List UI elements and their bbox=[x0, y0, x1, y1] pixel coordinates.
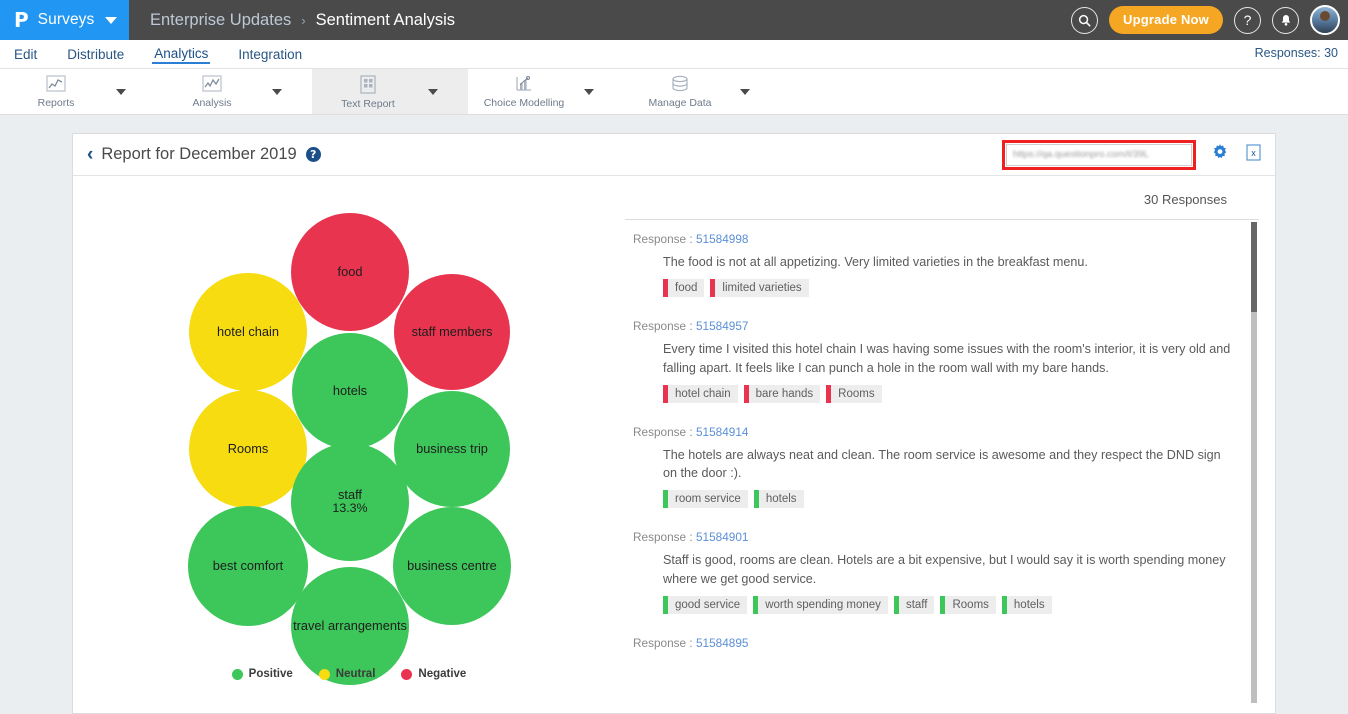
response-tag[interactable]: Rooms bbox=[826, 385, 881, 403]
svg-text:x: x bbox=[1251, 148, 1256, 158]
legend-dot-icon bbox=[319, 669, 330, 680]
bubble-label: food bbox=[338, 265, 363, 279]
toolbar-manage-data-label: Manage Data bbox=[648, 97, 711, 109]
response-item: Response : 51584914The hotels are always… bbox=[633, 425, 1235, 509]
legend-label: Negative bbox=[418, 668, 466, 680]
page-body: ‹ Report for December 2019 ? https://qa.… bbox=[0, 115, 1348, 714]
brand-surveys-menu[interactable]: P Surveys bbox=[0, 0, 129, 40]
legend-item-neutral[interactable]: Neutral bbox=[319, 668, 376, 680]
response-tag[interactable]: hotels bbox=[1002, 596, 1052, 614]
toolbar-choice-modelling-chevron-down-icon[interactable] bbox=[584, 89, 594, 95]
toolbar-analysis-button[interactable]: Analysis bbox=[158, 69, 266, 115]
response-tag[interactable]: good service bbox=[663, 596, 747, 614]
icon-toolbar: Reports Analysis Text Report bbox=[0, 69, 1348, 115]
response-tag[interactable]: limited varieties bbox=[710, 279, 808, 297]
response-tag[interactable]: room service bbox=[663, 490, 748, 508]
report-url-input[interactable]: https://qa.questionpro.com/t/39L bbox=[1006, 144, 1192, 166]
help-button[interactable]: ? bbox=[1234, 7, 1261, 34]
document-grid-icon bbox=[357, 74, 379, 96]
area-chart-icon bbox=[200, 75, 224, 95]
bubble-canvas: foodstaff membershotel chainhotelsRoomsb… bbox=[73, 180, 625, 672]
tag-label: worth spending money bbox=[758, 596, 888, 614]
legend-item-negative[interactable]: Negative bbox=[401, 668, 466, 680]
chart-legend: PositiveNeutralNegative bbox=[73, 668, 625, 680]
toolbar-manage-data-button[interactable]: Manage Data bbox=[626, 69, 734, 115]
toolbar-group-reports: Reports bbox=[0, 69, 156, 114]
toolbar-group-text-report: Text Report bbox=[312, 69, 468, 114]
nav-tabs: Edit Distribute Analytics Integration Re… bbox=[0, 40, 1348, 69]
toolbar-reports-label: Reports bbox=[38, 97, 75, 109]
response-item: Response : 51584998The food is not at al… bbox=[633, 232, 1235, 297]
tab-integration[interactable]: Integration bbox=[236, 45, 304, 63]
page-title: Report for December 2019 bbox=[101, 145, 296, 164]
report-card-actions: https://qa.questionpro.com/t/39L x bbox=[1002, 140, 1263, 170]
bubble-label: business centre bbox=[407, 559, 497, 573]
toolbar-analysis-label: Analysis bbox=[192, 97, 231, 109]
response-item: Response : 51584895 bbox=[633, 636, 1235, 650]
response-tag[interactable]: hotel chain bbox=[663, 385, 738, 403]
report-card: ‹ Report for December 2019 ? https://qa.… bbox=[72, 133, 1276, 714]
responses-pane: 30 Responses Response : 51584998The food… bbox=[625, 176, 1275, 713]
response-header: Response : 51584914 bbox=[633, 425, 1235, 439]
tag-label: good service bbox=[668, 596, 747, 614]
response-header: Response : 51584998 bbox=[633, 232, 1235, 246]
response-tag[interactable]: food bbox=[663, 279, 704, 297]
bubble-rooms[interactable]: Rooms bbox=[189, 390, 307, 508]
report-card-header: ‹ Report for December 2019 ? https://qa.… bbox=[73, 134, 1275, 176]
toolbar-reports-button[interactable]: Reports bbox=[2, 69, 110, 115]
report-card-body: foodstaff membershotel chainhotelsRoomsb… bbox=[73, 176, 1275, 713]
toolbar-text-report-chevron-down-icon[interactable] bbox=[428, 89, 438, 95]
response-tags: foodlimited varieties bbox=[633, 279, 1235, 297]
gear-icon bbox=[1212, 144, 1228, 160]
settings-button[interactable] bbox=[1212, 144, 1228, 165]
responses-scrollbar[interactable] bbox=[1251, 222, 1257, 703]
tab-analytics[interactable]: Analytics bbox=[152, 44, 210, 64]
responses-list: Response : 51584998The food is not at al… bbox=[625, 220, 1251, 713]
tab-distribute[interactable]: Distribute bbox=[65, 45, 126, 63]
tag-label: Rooms bbox=[945, 596, 995, 614]
report-url-value: https://qa.questionpro.com/t/39L bbox=[1013, 149, 1149, 160]
question-mark-icon: ? bbox=[1244, 12, 1252, 28]
topbar-actions: Upgrade Now ? bbox=[1071, 0, 1348, 40]
bubble-staff-members[interactable]: staff members bbox=[394, 274, 510, 390]
response-item: Response : 51584901Staff is good, rooms … bbox=[633, 530, 1235, 614]
bubble-business-trip[interactable]: business trip bbox=[394, 391, 510, 507]
excel-export-icon: x bbox=[1246, 144, 1261, 161]
legend-item-positive[interactable]: Positive bbox=[232, 668, 293, 680]
legend-label: Neutral bbox=[336, 668, 376, 680]
response-tags: hotel chainbare handsRooms bbox=[633, 385, 1235, 403]
bar-chart-icon bbox=[512, 75, 536, 95]
response-item: Response : 51584957Every time I visited … bbox=[633, 319, 1235, 403]
toolbar-analysis-chevron-down-icon[interactable] bbox=[272, 89, 282, 95]
response-header: Response : 51584901 bbox=[633, 530, 1235, 544]
bubble-percent: 13.3% bbox=[332, 502, 367, 516]
toolbar-manage-data-chevron-down-icon[interactable] bbox=[740, 89, 750, 95]
bubble-label: travel arrangements bbox=[293, 619, 407, 633]
response-header: Response : 51584957 bbox=[633, 319, 1235, 333]
help-icon[interactable]: ? bbox=[306, 147, 321, 162]
search-icon bbox=[1078, 14, 1091, 27]
questionpro-logo-icon: P bbox=[14, 10, 29, 30]
tab-edit[interactable]: Edit bbox=[12, 45, 39, 63]
tag-label: staff bbox=[899, 596, 935, 614]
url-highlight-box: https://qa.questionpro.com/t/39L bbox=[1002, 140, 1196, 170]
upgrade-now-button[interactable]: Upgrade Now bbox=[1109, 6, 1223, 34]
tag-label: bare hands bbox=[749, 385, 821, 403]
tag-label: hotel chain bbox=[668, 385, 738, 403]
response-tag[interactable]: bare hands bbox=[744, 385, 821, 403]
breadcrumb-current: Sentiment Analysis bbox=[316, 11, 455, 30]
legend-dot-icon bbox=[401, 669, 412, 680]
bubble-label: staff members bbox=[412, 325, 493, 339]
notifications-button[interactable] bbox=[1272, 7, 1299, 34]
breadcrumb-separator-icon: › bbox=[301, 13, 305, 28]
bubble-label: business trip bbox=[416, 442, 488, 456]
bubble-business-centre[interactable]: business centre bbox=[393, 507, 511, 625]
sentiment-bubble-chart: foodstaff membershotel chainhotelsRoomsb… bbox=[73, 176, 625, 713]
response-id-link[interactable]: 51584901 bbox=[696, 530, 749, 544]
response-text: Every time I visited this hotel chain I … bbox=[633, 340, 1235, 377]
response-id-link[interactable]: 51584895 bbox=[696, 636, 749, 650]
response-id-link[interactable]: 51584957 bbox=[696, 319, 749, 333]
bubble-food[interactable]: food bbox=[291, 213, 409, 331]
response-text: Staff is good, rooms are clean. Hotels a… bbox=[633, 551, 1235, 588]
bubble-label: hotel chain bbox=[217, 325, 279, 339]
avatar[interactable] bbox=[1310, 5, 1340, 35]
breadcrumb-parent[interactable]: Enterprise Updates bbox=[150, 11, 291, 30]
tag-label: Rooms bbox=[831, 385, 881, 403]
toolbar-choice-modelling-button[interactable]: Choice Modelling bbox=[470, 69, 578, 115]
chevron-down-icon bbox=[105, 17, 117, 24]
brand-label: Surveys bbox=[38, 11, 95, 29]
response-tag[interactable]: hotels bbox=[754, 490, 804, 508]
bell-icon bbox=[1280, 14, 1292, 27]
response-text: The hotels are always neat and clean. Th… bbox=[633, 446, 1235, 483]
breadcrumb: Enterprise Updates › Sentiment Analysis bbox=[129, 0, 455, 40]
tag-label: room service bbox=[668, 490, 748, 508]
response-header: Response : 51584895 bbox=[633, 636, 1235, 650]
tag-label: hotels bbox=[759, 490, 804, 508]
toolbar-group-analysis: Analysis bbox=[156, 69, 312, 114]
legend-label: Positive bbox=[249, 668, 293, 680]
bubble-label: Rooms bbox=[228, 442, 269, 456]
response-id-link[interactable]: 51584998 bbox=[696, 232, 749, 246]
toolbar-group-manage-data: Manage Data bbox=[624, 69, 780, 114]
bubble-staff[interactable]: staff13.3% bbox=[291, 443, 409, 561]
toolbar-text-report-label: Text Report bbox=[341, 98, 395, 110]
bubble-best-comfort[interactable]: best comfort bbox=[188, 506, 308, 626]
response-tags: room servicehotels bbox=[633, 490, 1235, 508]
response-tag[interactable]: staff bbox=[894, 596, 935, 614]
database-icon bbox=[669, 75, 691, 95]
toolbar-text-report-button[interactable]: Text Report bbox=[314, 69, 422, 115]
bubble-label: hotels bbox=[333, 384, 367, 398]
response-tag[interactable]: Rooms bbox=[940, 596, 995, 614]
export-excel-button[interactable]: x bbox=[1246, 144, 1261, 166]
bubble-label: staff bbox=[338, 488, 362, 502]
tag-label: limited varieties bbox=[715, 279, 808, 297]
bubble-hotels[interactable]: hotels bbox=[292, 333, 408, 449]
responses-scroll-area: Response : 51584998The food is not at al… bbox=[625, 219, 1259, 713]
response-id-link[interactable]: 51584914 bbox=[696, 425, 749, 439]
tag-label: food bbox=[668, 279, 704, 297]
responses-total-label: 30 Responses bbox=[625, 176, 1259, 219]
search-button[interactable] bbox=[1071, 7, 1098, 34]
responses-scrollbar-thumb[interactable] bbox=[1251, 222, 1257, 312]
bubble-hotel-chain[interactable]: hotel chain bbox=[189, 273, 307, 391]
response-text: The food is not at all appetizing. Very … bbox=[633, 253, 1235, 271]
back-chevron-icon[interactable]: ‹ bbox=[87, 145, 93, 164]
tag-label: hotels bbox=[1007, 596, 1052, 614]
responses-count-label: Responses: 30 bbox=[1255, 46, 1338, 60]
top-bar: P Surveys Enterprise Updates › Sentiment… bbox=[0, 0, 1348, 40]
line-chart-icon bbox=[44, 75, 68, 95]
toolbar-choice-modelling-label: Choice Modelling bbox=[484, 97, 565, 109]
bubble-label: best comfort bbox=[213, 559, 283, 573]
response-tags: good serviceworth spending moneystaffRoo… bbox=[633, 596, 1235, 614]
toolbar-reports-chevron-down-icon[interactable] bbox=[116, 89, 126, 95]
toolbar-group-choice-modelling: Choice Modelling bbox=[468, 69, 624, 114]
legend-dot-icon bbox=[232, 669, 243, 680]
response-tag[interactable]: worth spending money bbox=[753, 596, 888, 614]
